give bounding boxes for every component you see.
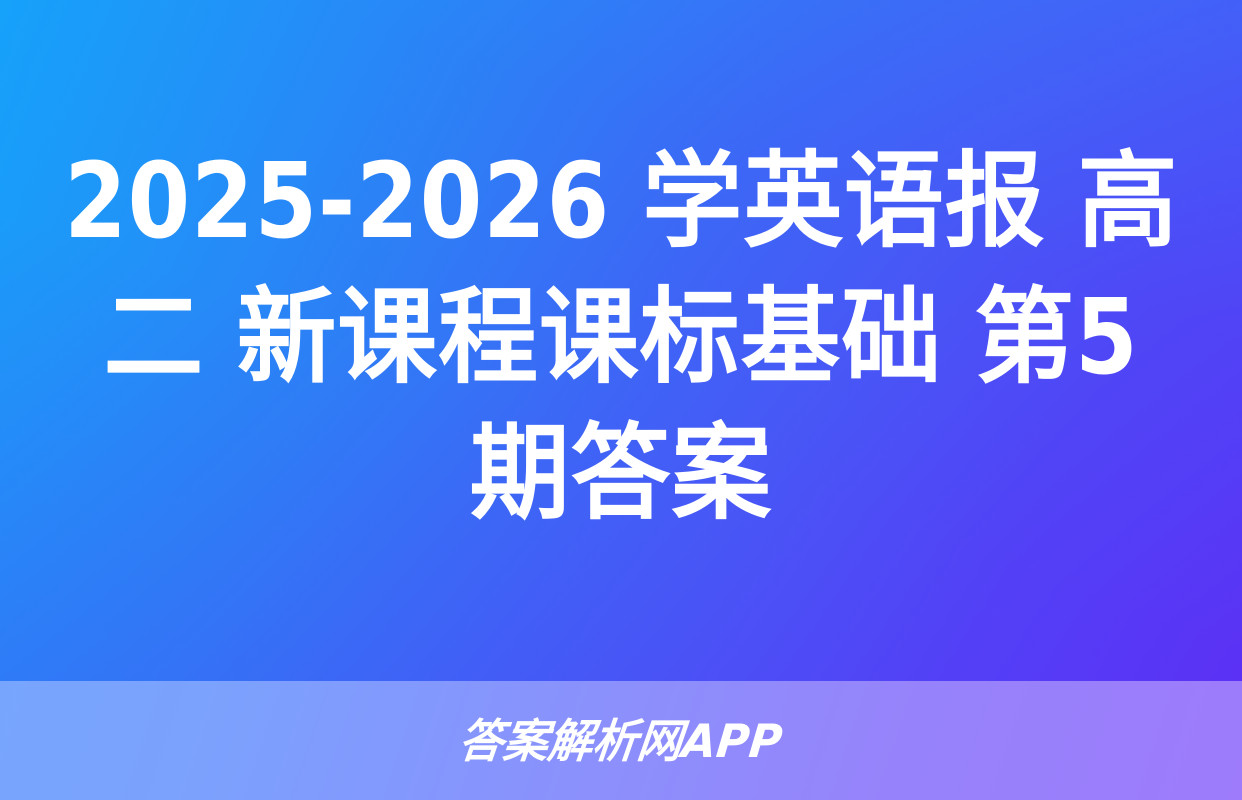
hero-gradient-panel: 2025-2026 学英语报 高 二 新课程课标基础 第5 期答案 (0, 0, 1242, 681)
title-line-3: 期答案 (64, 405, 1178, 541)
title-line-2: 二 新课程课标基础 第5 (64, 269, 1178, 405)
app-watermark-label: 答案解析网APP (457, 715, 786, 767)
poster-canvas: 2025-2026 学英语报 高 二 新课程课标基础 第5 期答案 答案解析网A… (0, 0, 1242, 800)
footer-watermark-band: 答案解析网APP (0, 681, 1242, 800)
page-title: 2025-2026 学英语报 高 二 新课程课标基础 第5 期答案 (41, 133, 1201, 549)
title-line-1: 2025-2026 学英语报 高 (64, 133, 1178, 269)
